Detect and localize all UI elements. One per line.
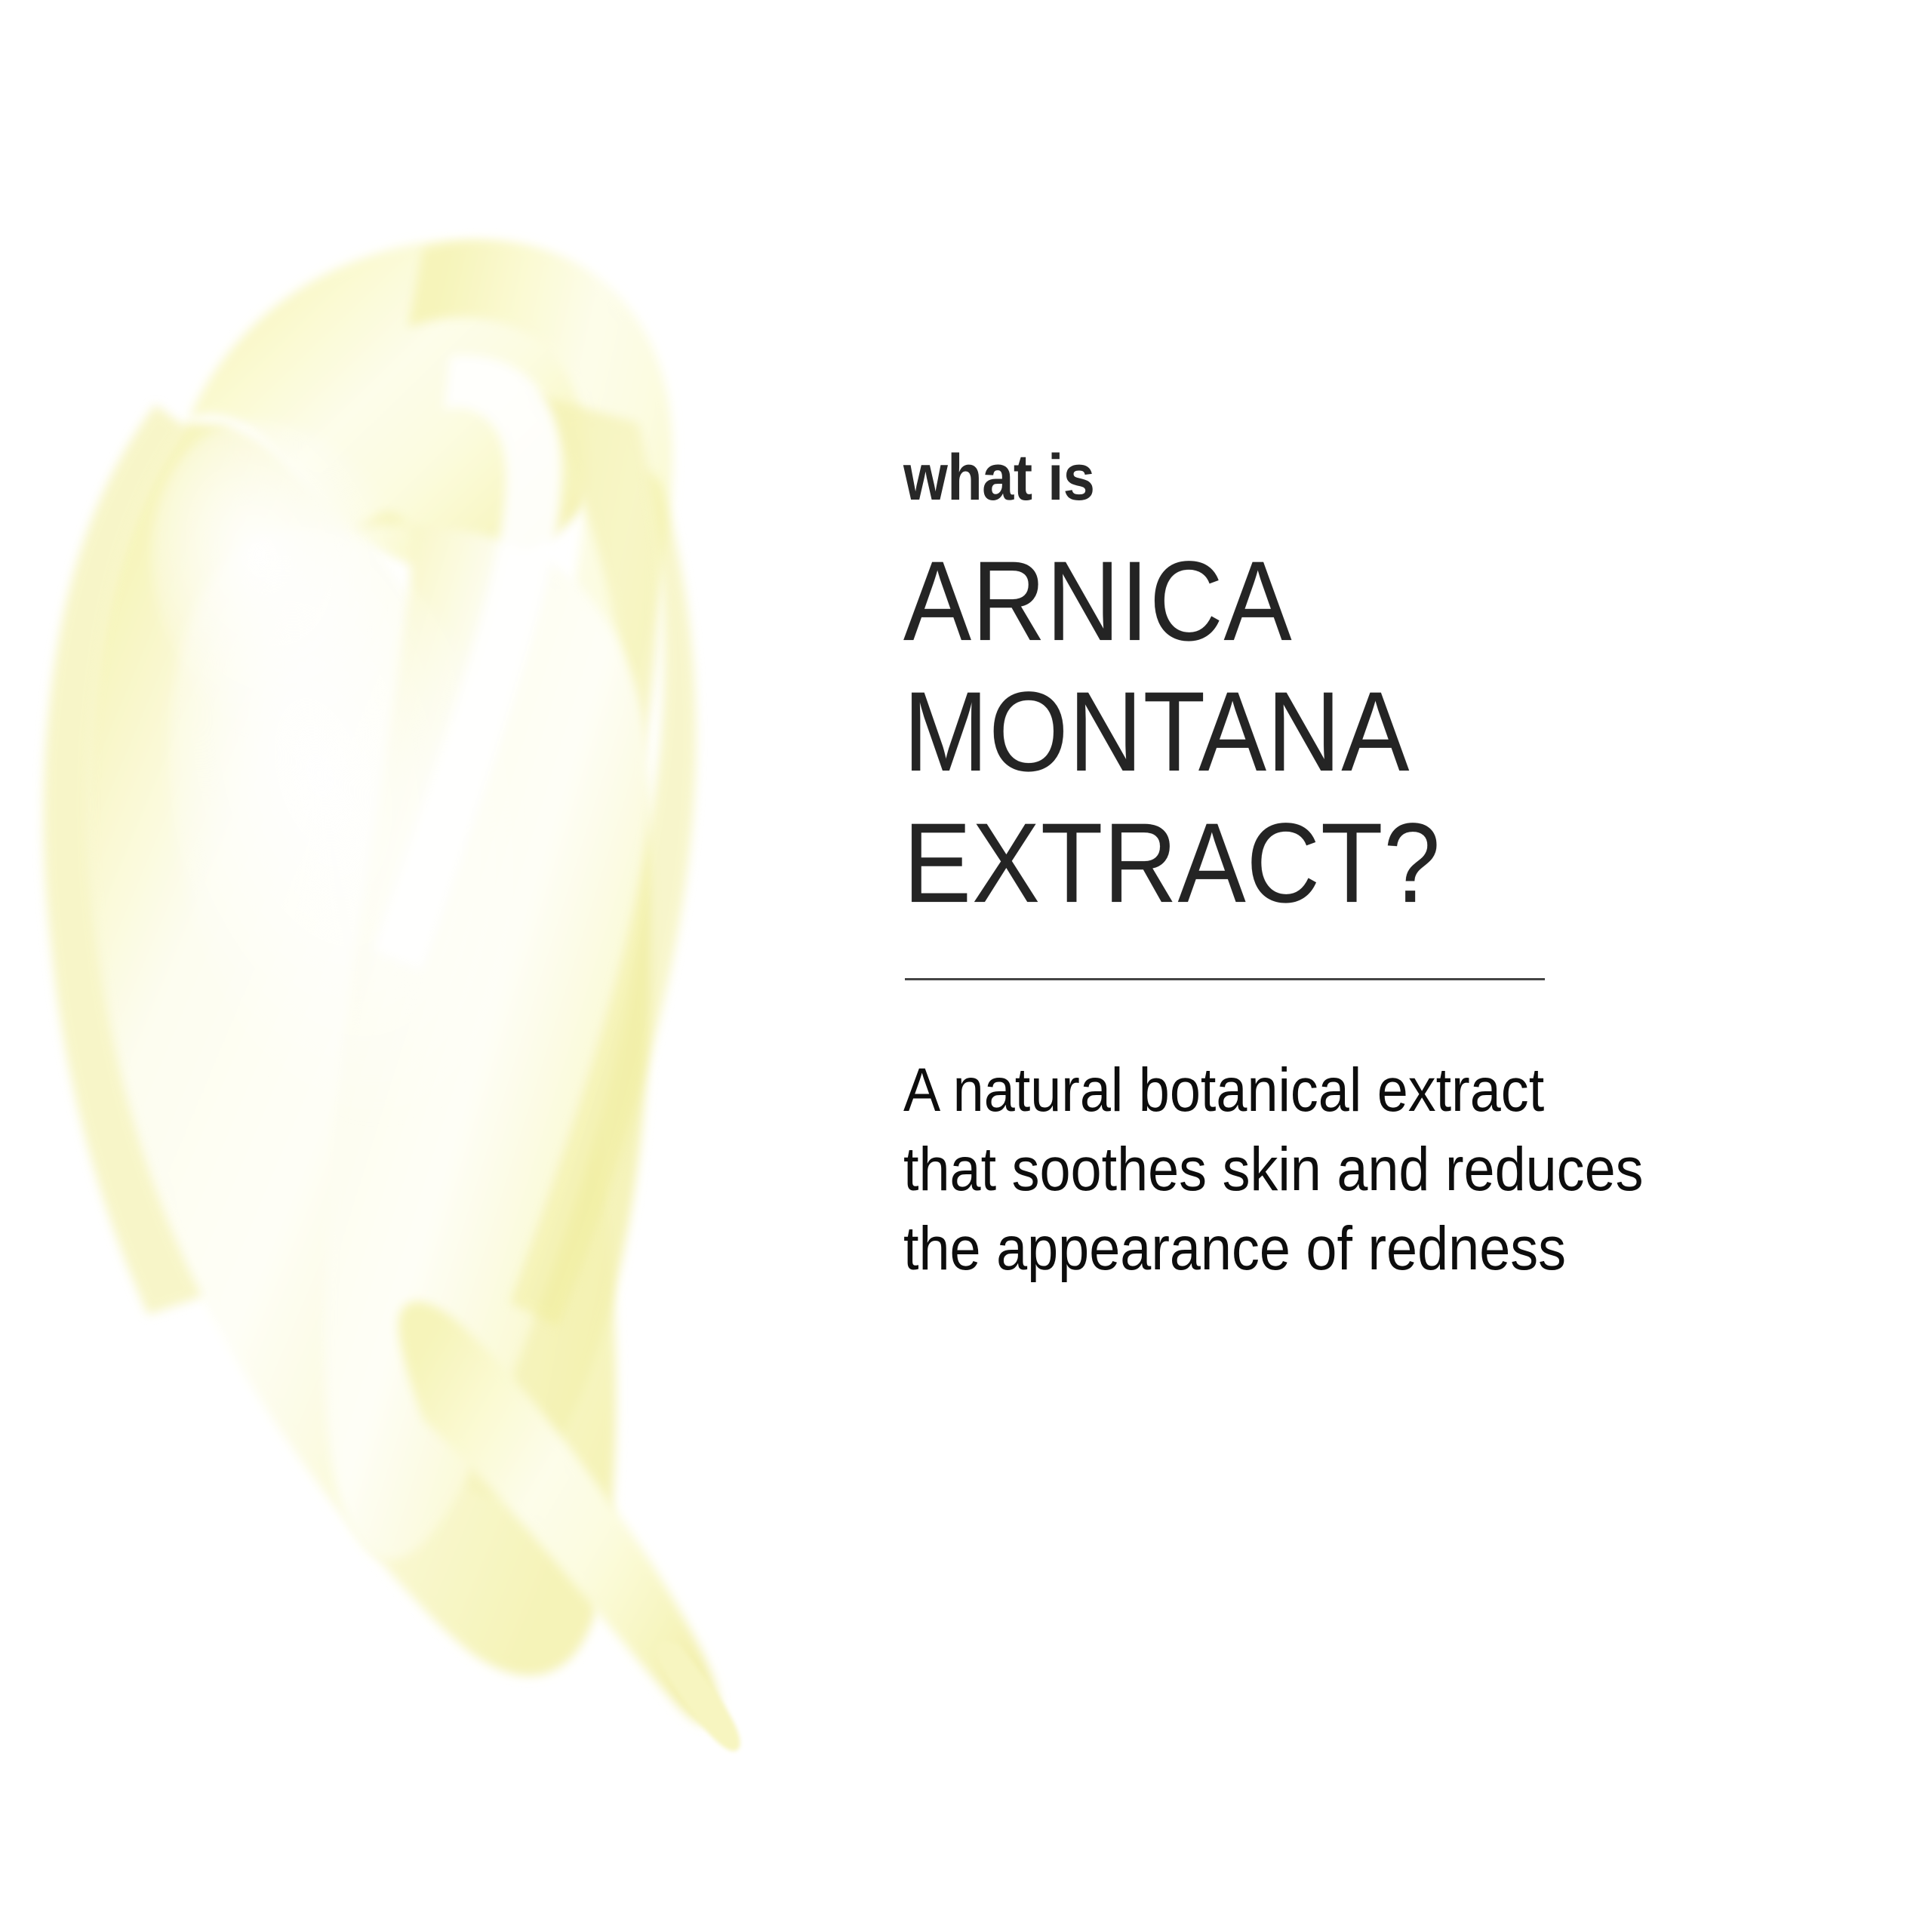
headline-line-2: MONTANA	[903, 666, 1759, 797]
headline-line-3: EXTRACT?	[903, 798, 1759, 928]
description-line-1: A natural botanical extract	[903, 1051, 1759, 1131]
ingredient-text-column: what is ARNICA MONTANA EXTRACT? A natura…	[903, 445, 1854, 1289]
description-line-3: the appearance of redness	[903, 1210, 1759, 1289]
section-divider	[905, 978, 1545, 980]
cream-swatch-artwork	[0, 0, 966, 1932]
ingredient-description: A natural botanical extract that soothes…	[903, 1051, 1854, 1289]
product-ingredient-card: what is ARNICA MONTANA EXTRACT? A natura…	[0, 0, 1932, 1932]
eyebrow-what-is: what is	[903, 445, 1740, 510]
page-title: ARNICA MONTANA EXTRACT?	[903, 536, 1854, 928]
headline-line-1: ARNICA	[903, 536, 1759, 666]
description-line-2: that soothes skin and reduces	[903, 1131, 1759, 1210]
cream-swatch-icon	[0, 0, 966, 1932]
